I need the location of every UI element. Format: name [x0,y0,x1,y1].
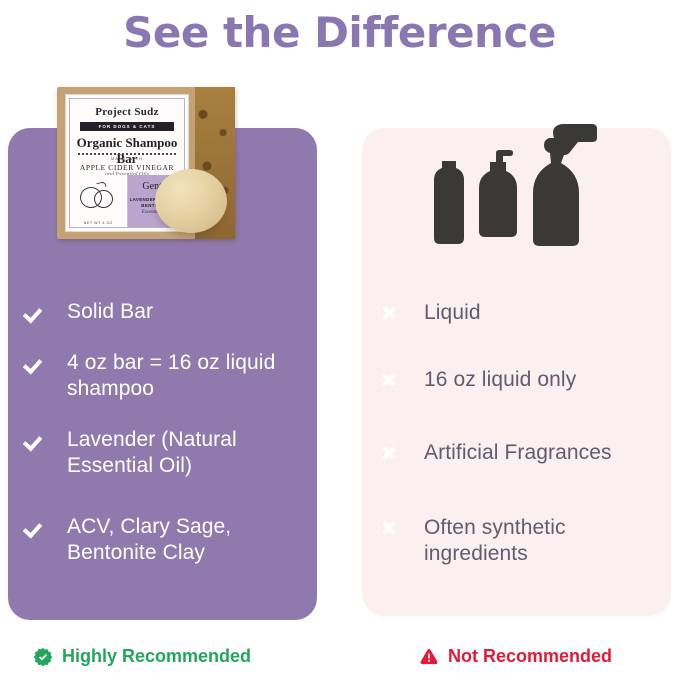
highly-recommended-badge: Highly Recommended [33,646,251,667]
shampoo-bar-puck [155,169,227,233]
list-item: 16 oz liquid only [375,366,670,394]
page-title: See the Difference [0,5,679,61]
list-item: 4 oz bar = 16 oz liquid shampoo [18,349,308,402]
label-made-with: MADE WITH [66,156,188,161]
list-item: Solid Bar [18,298,308,326]
bottle-silhouettes [424,120,624,255]
label-divider [78,153,176,155]
pump-bottle-icon [479,150,517,237]
list-item: Artificial Fragrances [375,439,670,467]
x-circle-icon [375,299,403,327]
comparison-infographic: See the Difference Project Sudz FOR DOGS… [0,0,679,673]
list-item-label: Liquid [424,299,481,326]
check-circle-icon [18,349,46,377]
verified-badge-icon [33,647,53,667]
list-item-label: Often synthetic ingredients [424,514,670,567]
label-key-ingredient: APPLE CIDER VINEGAR [66,163,188,172]
x-circle-icon [375,439,403,467]
list-item-label: 16 oz liquid only [424,366,576,393]
apple-shape-front-icon [94,190,113,208]
shampoo-bar-box-photo: Project Sudz FOR DOGS & CATS Organic Sha… [57,87,247,247]
list-item: Lavender (Natural Essential Oil) [18,426,308,479]
label-net-weight: NET WT 4 OZ [70,221,127,225]
list-item: Liquid [375,299,670,327]
highly-recommended-label: Highly Recommended [62,646,251,667]
list-item-label: Artificial Fragrances [424,439,612,466]
not-recommended-label: Not Recommended [448,646,612,667]
x-circle-icon [375,514,403,542]
label-brand: Project Sudz [66,106,188,118]
list-item: ACV, Clary Sage, Bentonite Clay [18,513,308,566]
check-circle-icon [18,426,46,454]
check-circle-icon [18,298,46,326]
list-item-label: ACV, Clary Sage, Bentonite Clay [67,513,308,566]
list-item-label: Solid Bar [67,298,153,325]
warning-triangle-icon [419,647,439,667]
not-recommended-badge: Not Recommended [419,646,612,667]
plain-bottle-icon [434,161,464,244]
list-item-label: 4 oz bar = 16 oz liquid shampoo [67,349,308,402]
x-circle-icon [375,366,403,394]
apple-illustration: NET WT 4 OZ [70,175,128,227]
apple-stem-icon [96,181,106,189]
check-circle-icon [18,513,46,541]
list-item: Often synthetic ingredients [375,514,670,567]
list-item-label: Lavender (Natural Essential Oil) [67,426,308,479]
label-audience: FOR DOGS & CATS [80,122,174,131]
